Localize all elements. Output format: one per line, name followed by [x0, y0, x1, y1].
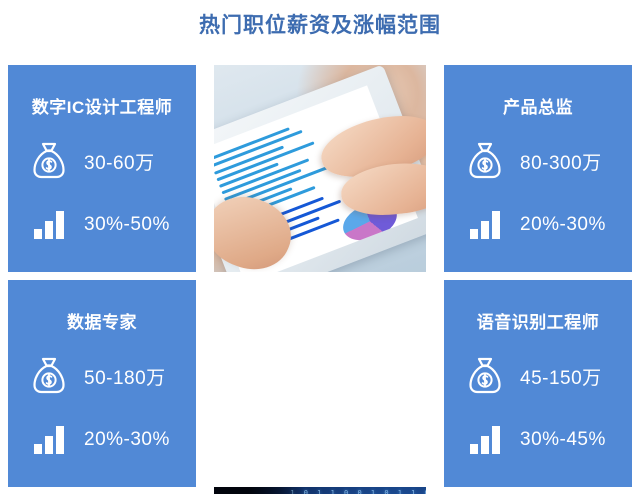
photo-shadow-overlay — [214, 487, 303, 494]
salary-value: 30-60万 — [84, 148, 155, 175]
money-bag-icon — [464, 355, 506, 397]
money-bag-icon — [28, 140, 70, 182]
job-title: 产品总监 — [444, 93, 632, 118]
job-stats: 30-60万 30%-50% — [8, 140, 196, 246]
salary-value: 50-180万 — [84, 363, 166, 390]
growth-value: 30%-45% — [520, 429, 606, 451]
salary-value: 45-150万 — [520, 363, 602, 390]
growth-row: 30%-50% — [28, 204, 196, 246]
job-card-top-right[interactable]: 产品总监 80-300万 — [444, 65, 632, 272]
job-card-top-left[interactable]: 数字IC设计工程师 30-60万 — [8, 65, 196, 272]
salary-row: 30-60万 — [28, 140, 196, 182]
job-card-bottom-right[interactable]: 语音识别工程师 45-150万 — [444, 280, 632, 487]
bar-chart-icon — [464, 204, 506, 246]
salary-row: 50-180万 — [28, 355, 196, 397]
bar-chart-icon — [464, 419, 506, 461]
job-title: 数据专家 — [8, 308, 196, 333]
salary-row: 80-300万 — [464, 140, 632, 182]
money-bag-icon — [28, 355, 70, 397]
salary-value: 80-300万 — [520, 148, 602, 175]
growth-value: 30%-50% — [84, 214, 170, 236]
growth-row: 30%-45% — [464, 419, 632, 461]
infographic-page: 热门职位薪资及涨幅范围 数字IC设计工程师 30-60万 — [0, 0, 640, 494]
growth-value: 20%-30% — [84, 429, 170, 451]
bar-chart-icon — [28, 419, 70, 461]
growth-row: 20%-30% — [464, 204, 632, 246]
growth-value: 20%-30% — [520, 214, 606, 236]
job-stats: 80-300万 20%-30% — [444, 140, 632, 246]
job-title: 数字IC设计工程师 — [8, 93, 196, 118]
job-title: 语音识别工程师 — [444, 308, 632, 333]
job-card-bottom-left[interactable]: 数据专家 50-180万 — [8, 280, 196, 487]
salary-row: 45-150万 — [464, 355, 632, 397]
money-bag-icon — [464, 140, 506, 182]
binary-data-photo: 1 0 1 1 0 0 1 0 1 1 0 1 0 0 1 0 1 1 0 1 … — [214, 487, 426, 494]
job-stats: 50-180万 20%-30% — [8, 355, 196, 461]
tablet-analytics-photo — [214, 65, 426, 272]
growth-row: 20%-30% — [28, 419, 196, 461]
bar-chart-icon — [28, 204, 70, 246]
job-stats: 45-150万 30%-45% — [444, 355, 632, 461]
page-title: 热门职位薪资及涨幅范围 — [0, 12, 640, 40]
